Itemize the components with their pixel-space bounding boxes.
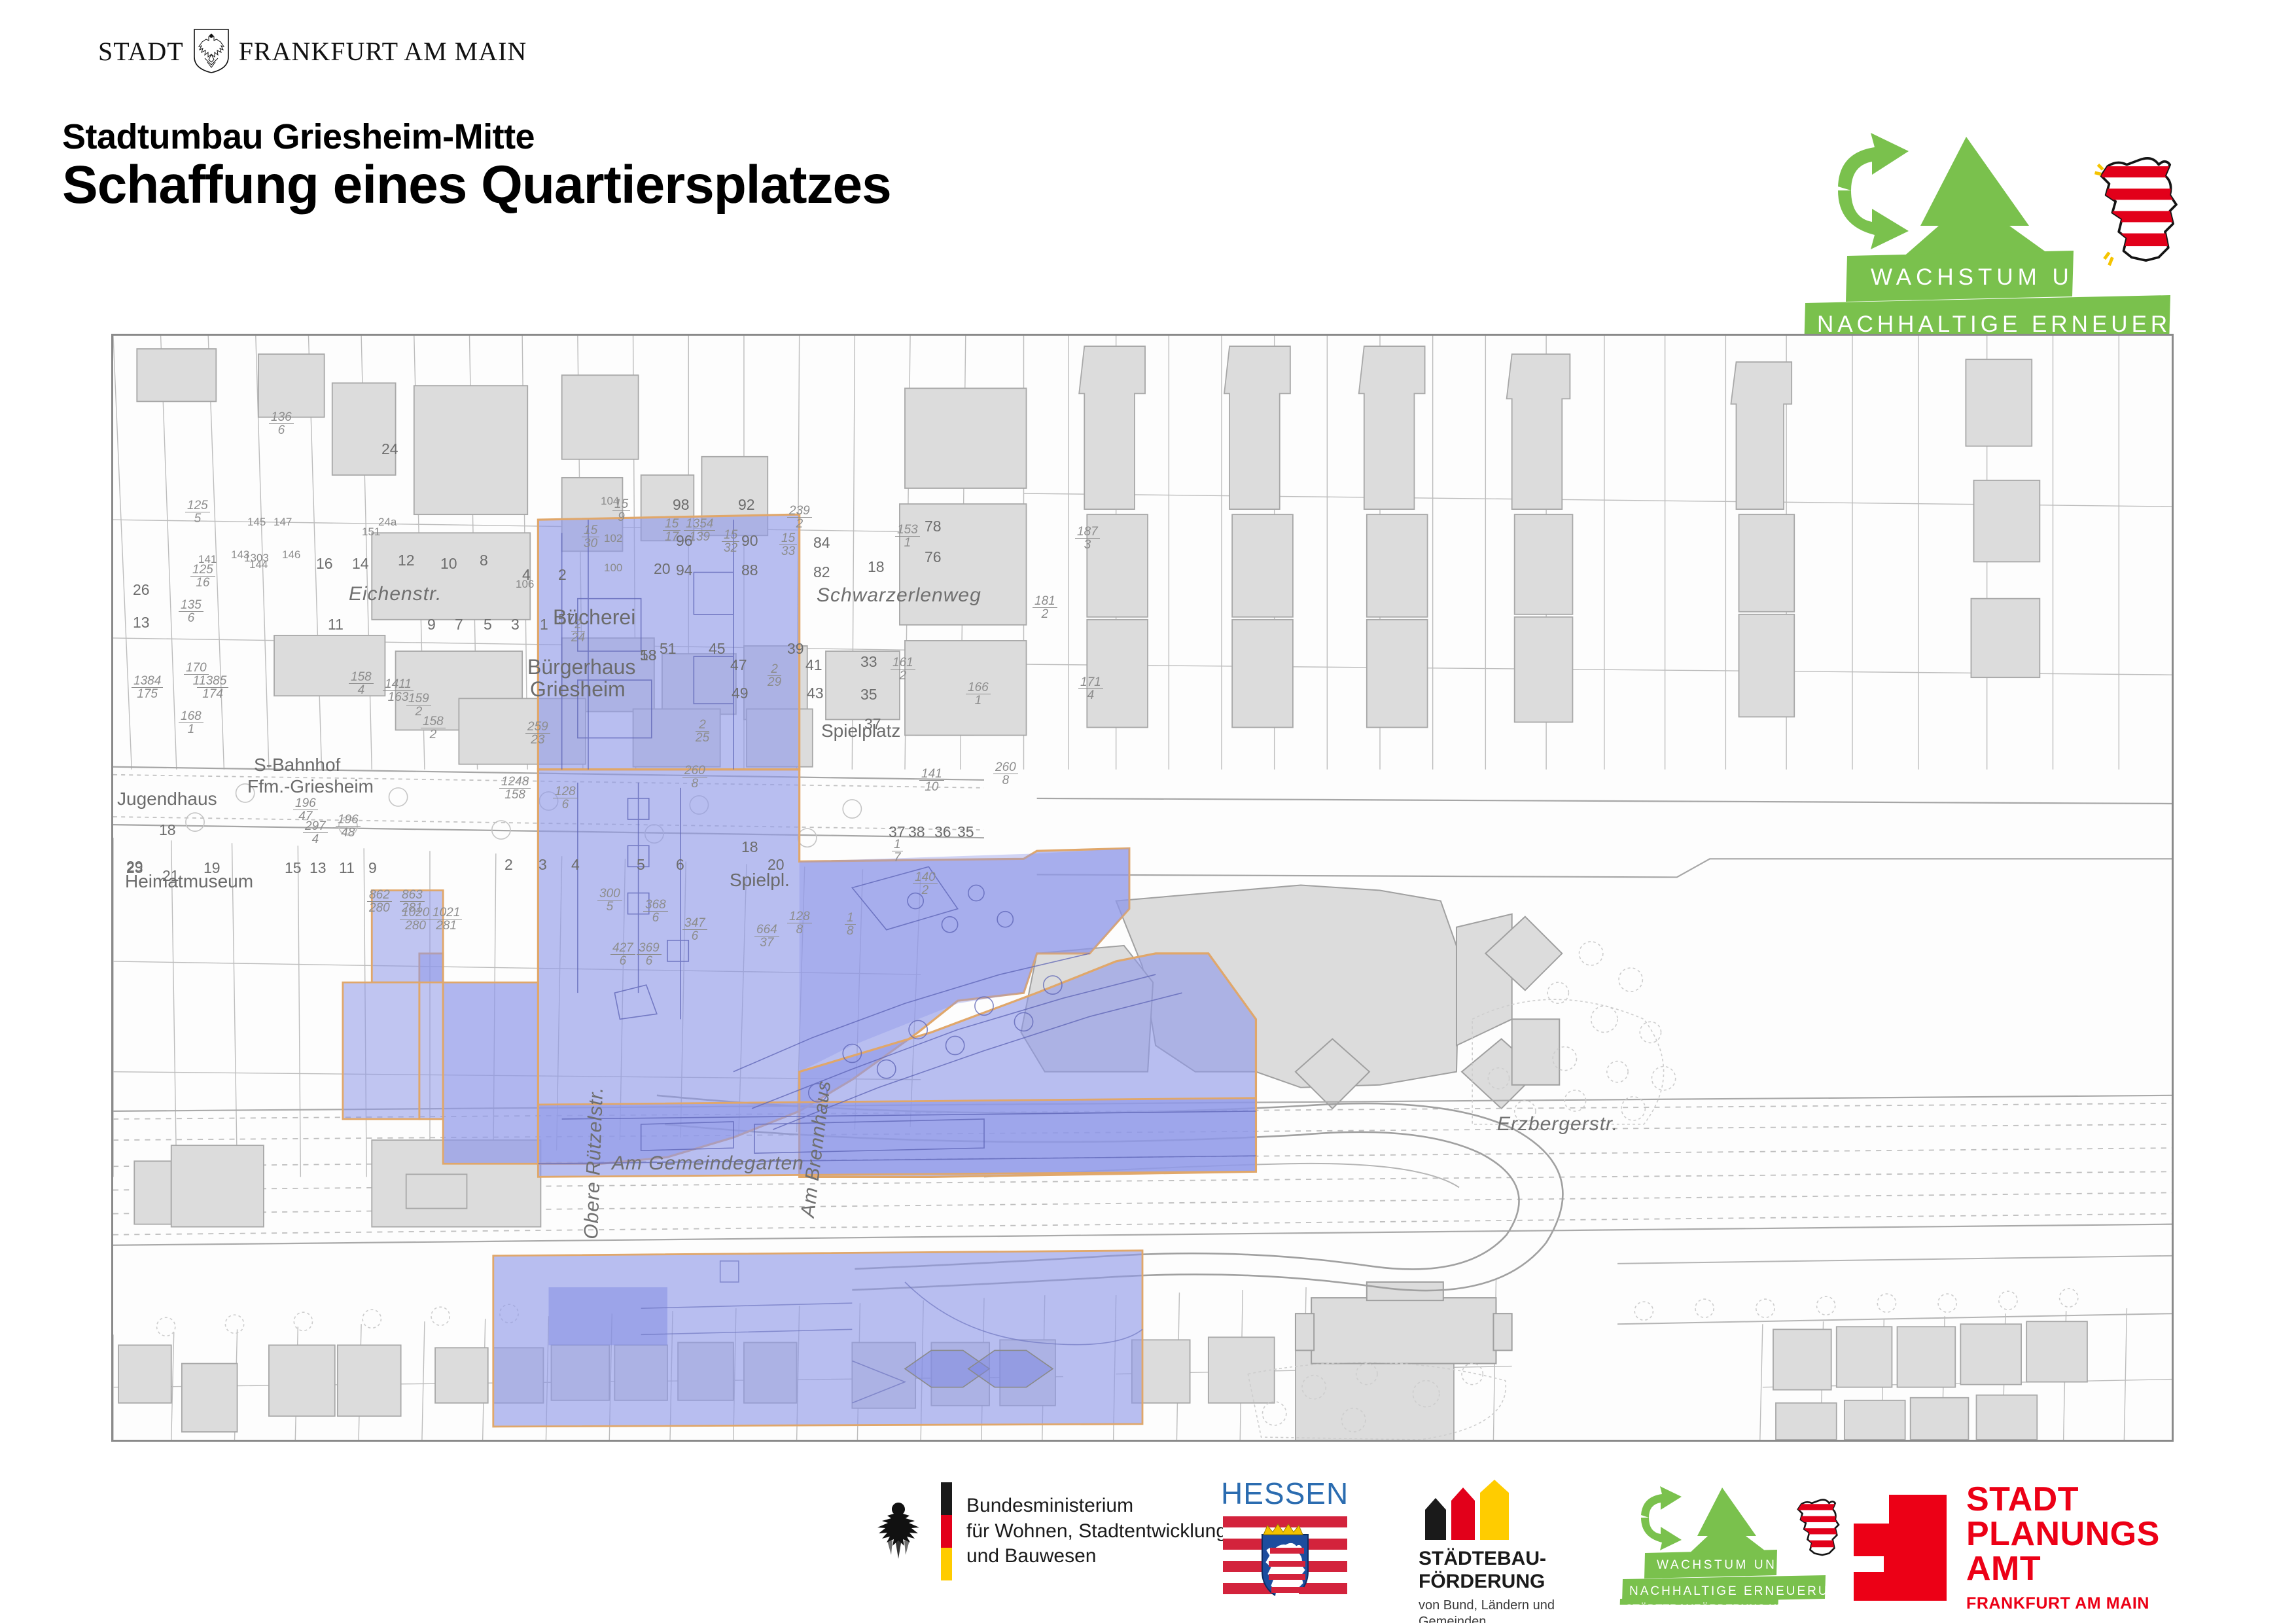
bmwsb-logo: Bundesministerium für Wohnen, Stadtentwi…: [870, 1482, 1227, 1580]
spa-line2: PLANUNGS: [1966, 1517, 2160, 1552]
wachstum-footer-line3: STÄDTEBAUFÖRDERUNG HESSEN: [1625, 1602, 1814, 1605]
german-flag-bar-icon: [941, 1482, 952, 1580]
stbf-sub: von Bund, Ländern und Gemeinden: [1419, 1597, 1555, 1623]
city-logo-word-frankfurt: FRANKFURT AM MAIN: [239, 36, 527, 67]
stbf-sub1: von Bund, Ländern und: [1419, 1597, 1555, 1614]
wachstum-footer-line1: WACHSTUM UND: [1657, 1558, 1788, 1572]
stbf-title: STÄDTEBAU- FÖRDERUNG: [1419, 1548, 1546, 1593]
poster-subtitle: Stadtumbau Griesheim-Mitte: [62, 116, 535, 157]
green-logo-line1: WACHSTUM UND: [1871, 264, 2115, 290]
stbf-line1: STÄDTEBAU-: [1419, 1548, 1546, 1571]
poster-page: STADT FRANKFURT AM MAIN Stadtumbau Gries…: [0, 0, 2296, 1623]
stadtplanungsamt-mark-icon: [1848, 1492, 1947, 1603]
bmwsb-text: Bundesministerium für Wohnen, Stadtentwi…: [966, 1493, 1227, 1569]
bundesadler-eagle-icon: [870, 1500, 927, 1563]
funding-logo-bar: Bundesministerium für Wohnen, Stadtentwi…: [0, 1469, 2296, 1623]
stbf-sub2: Gemeinden: [1419, 1614, 1555, 1623]
hessen-wordmark: HESSEN: [1221, 1476, 1349, 1511]
stadtplanungsamt-wordmark: STADT PLANUNGS AMT FRANKFURT AM MAIN: [1966, 1482, 2160, 1613]
wachstum-footer-line2: NACHHALTIGE ERNEUERUNG: [1629, 1584, 1852, 1598]
cadastral-map[interactable]: Eichenstr. Schwarzerlenweg Am Gemeindega…: [111, 334, 2174, 1442]
spa-line3: AMT: [1966, 1552, 2160, 1586]
staedtebaufoerderung-logo: STÄDTEBAU- FÖRDERUNG von Bund, Ländern u…: [1419, 1480, 1555, 1623]
hessen-logo: HESSEN: [1221, 1476, 1349, 1607]
frankfurt-eagle-crest-icon: [193, 28, 230, 74]
hessen-flag-lion-icon: [1223, 1515, 1347, 1607]
city-logo-word-stadt: STADT: [98, 36, 184, 67]
map-vector-layer: [113, 336, 2172, 1440]
spa-sub: FRANKFURT AM MAIN: [1966, 1594, 2160, 1613]
bmwsb-line2: für Wohnen, Stadtentwicklung: [966, 1519, 1227, 1544]
stbf-line2: FÖRDERUNG: [1419, 1571, 1546, 1594]
bmwsb-line1: Bundesministerium: [966, 1493, 1227, 1518]
three-houses-icon: [1422, 1480, 1521, 1540]
city-of-frankfurt-logo: STADT FRANKFURT AM MAIN: [98, 30, 527, 72]
stadtplanungsamt-logo: STADT PLANUNGS AMT FRANKFURT AM MAIN: [1848, 1482, 2160, 1613]
bmwsb-line3: und Bauwesen: [966, 1544, 1227, 1569]
spa-line1: STADT: [1966, 1482, 2160, 1517]
poster-title: Schaffung eines Quartiersplatzes: [62, 154, 891, 216]
